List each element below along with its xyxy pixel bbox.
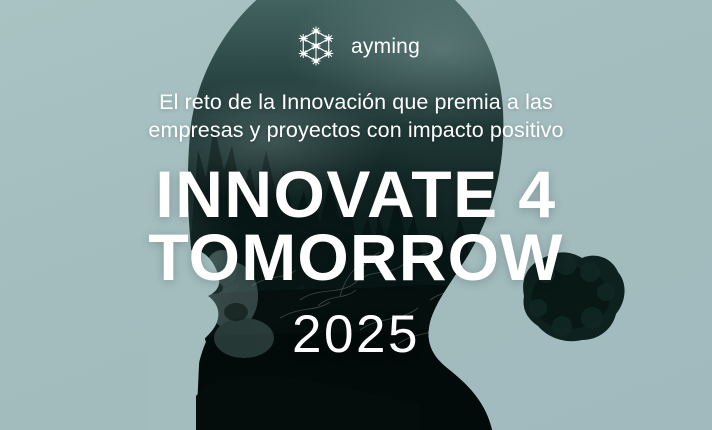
brand-wordmark: ayming [351, 36, 420, 57]
subtitle: El reto de la Innovación que premia a la… [76, 88, 636, 145]
edition-year: 2025 [292, 308, 420, 361]
poster-canvas: ayming El reto de la Innovación que prem… [0, 0, 712, 430]
subtitle-line-1: El reto de la Innovación que premia a la… [159, 90, 553, 114]
page-title: INNOVATE 4 TOMORROW [26, 163, 686, 290]
ayming-network-snowflake-icon [292, 22, 340, 70]
headline-line-2: TOMORROW [26, 226, 686, 289]
subtitle-line-2: empresas y proyectos con impacto positiv… [148, 118, 563, 142]
headline-line-1: INNOVATE 4 [26, 163, 686, 226]
brand-logo: ayming [0, 22, 712, 70]
